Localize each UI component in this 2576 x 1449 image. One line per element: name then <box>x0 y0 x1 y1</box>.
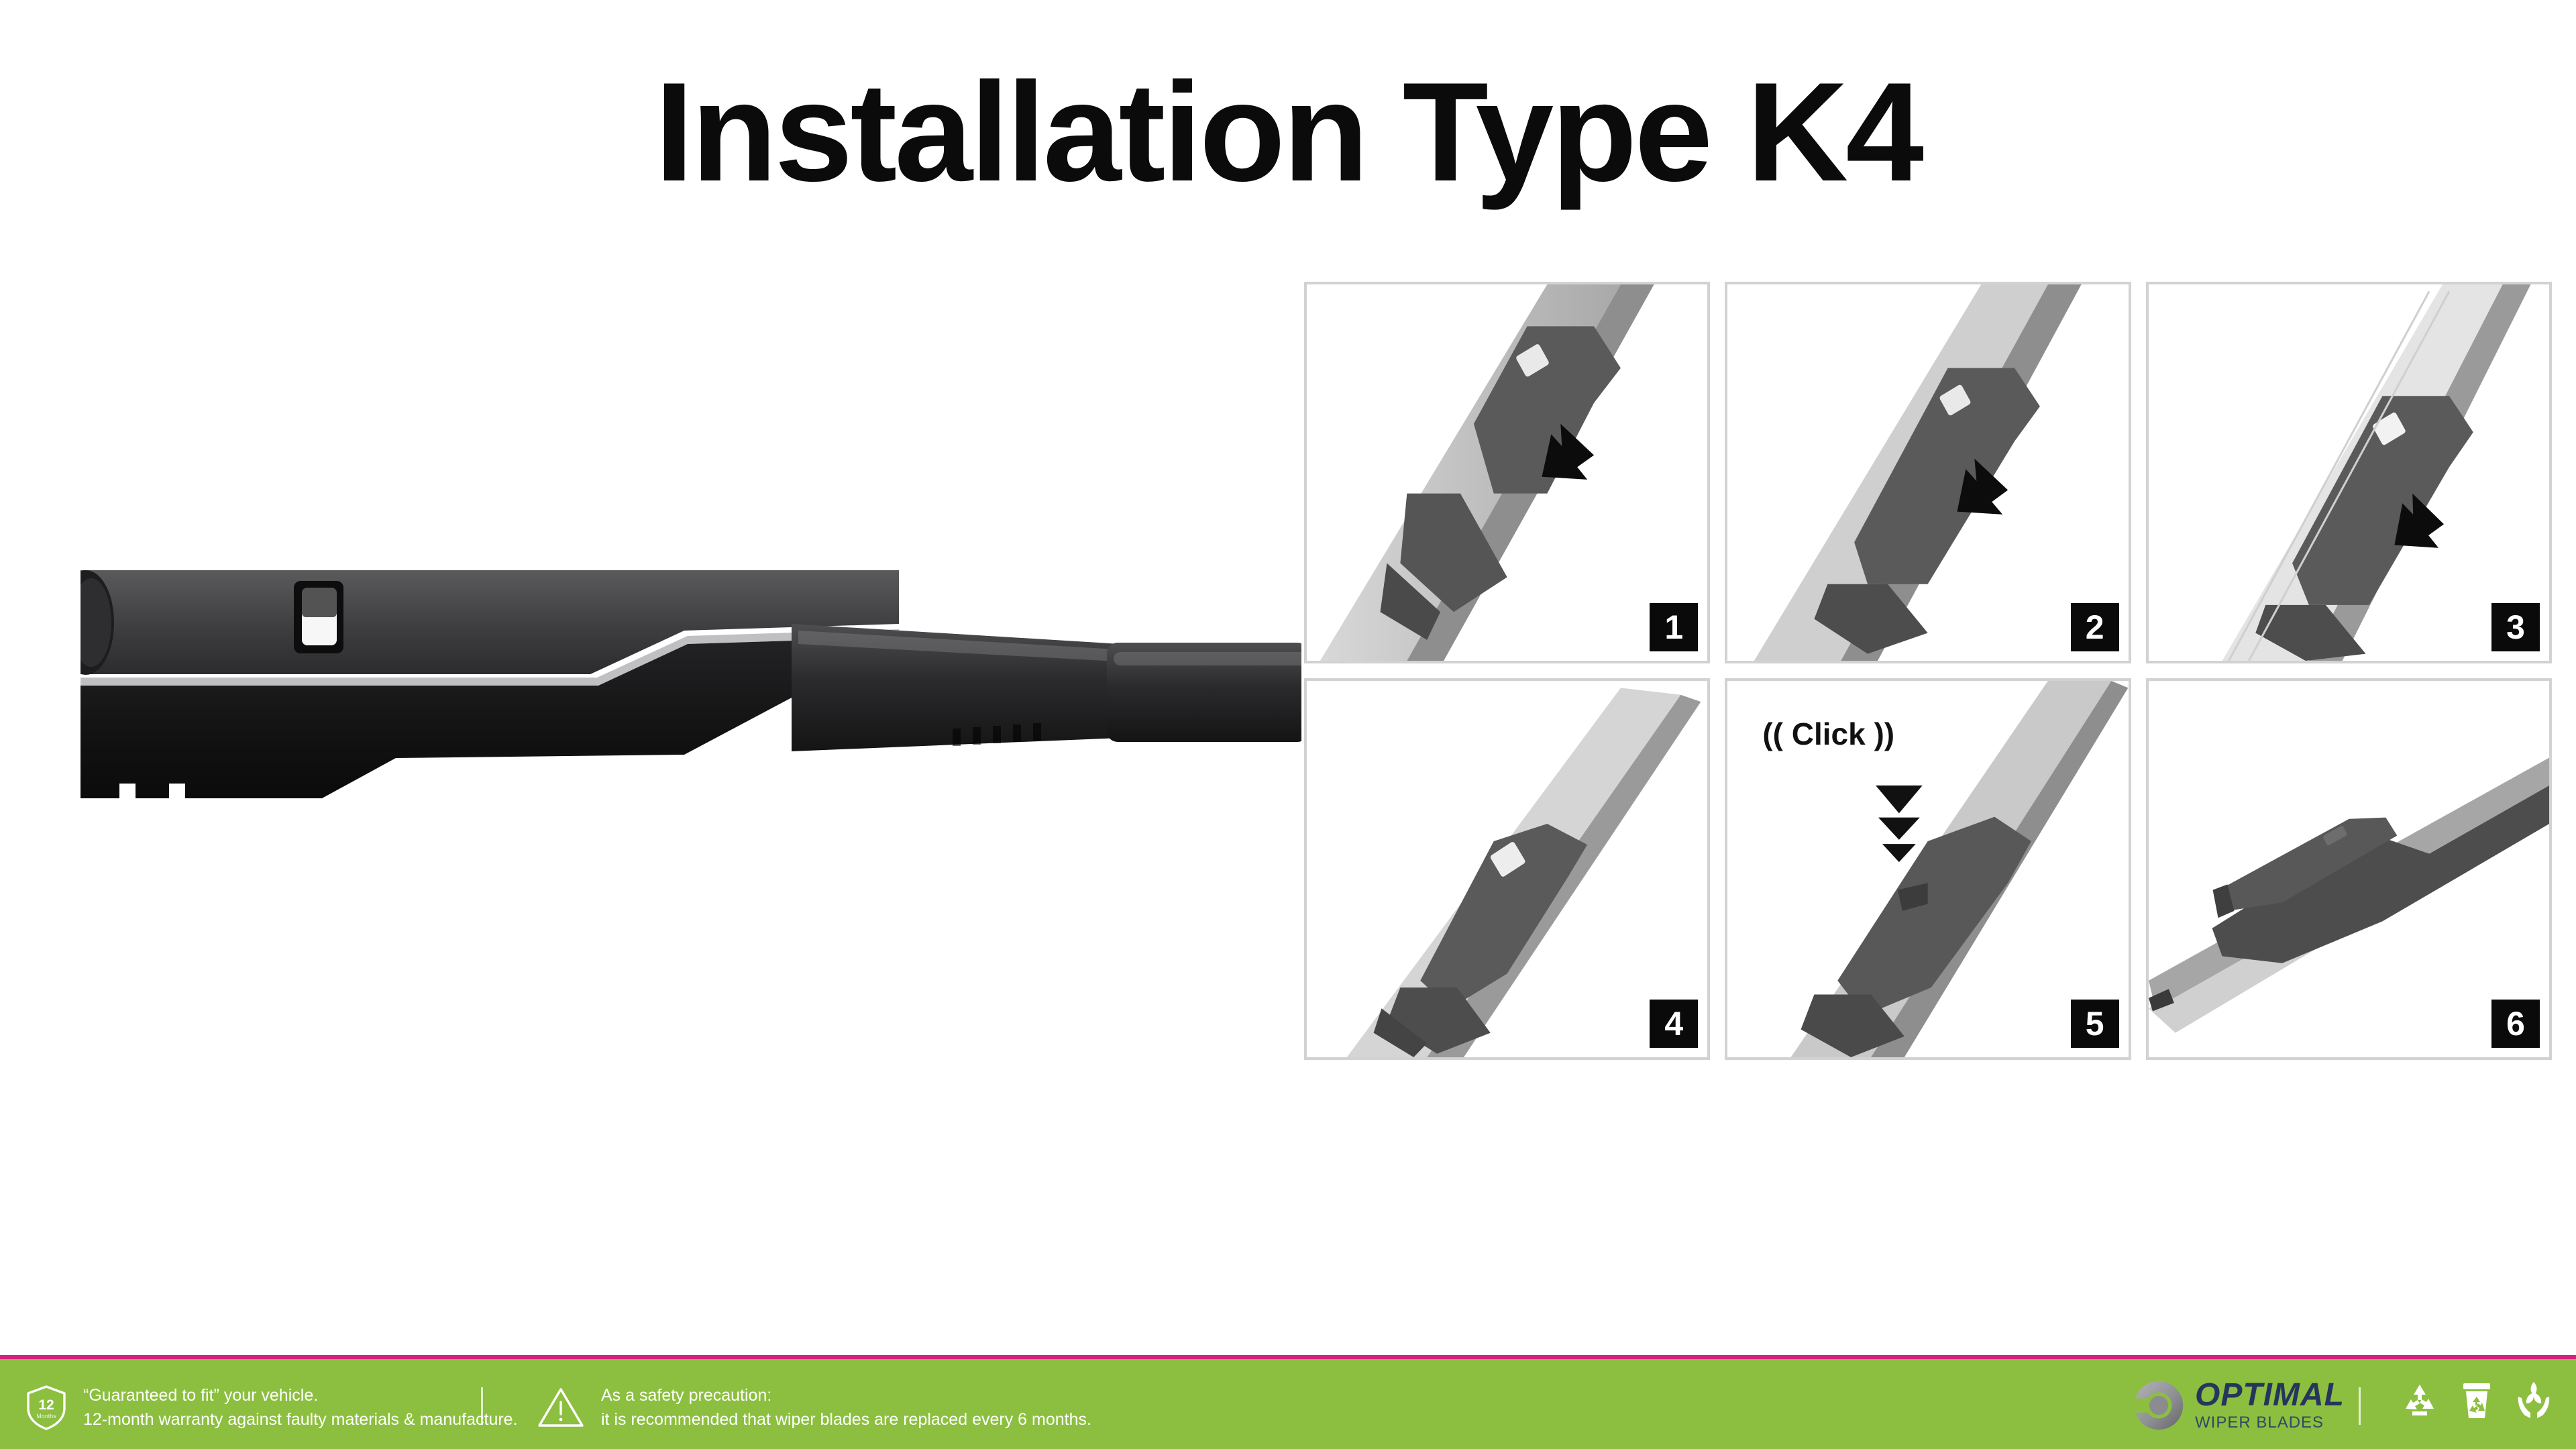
step-number-badge: 4 <box>1650 1000 1698 1048</box>
warranty-line-1: “Guaranteed to fit” your vehicle. <box>83 1383 518 1407</box>
footer-brand-logo: OPTIMAL WIPER BLADES <box>2133 1379 2345 1431</box>
step-number-badge: 1 <box>1650 603 1698 651</box>
svg-text:Months: Months <box>36 1413 56 1419</box>
wiper-arm-adapter-icon <box>2149 284 2549 661</box>
wiper-arm-adapter-icon <box>1307 681 1707 1057</box>
plant-in-hands-icon <box>2516 1381 2552 1419</box>
step-panel-1[interactable]: 1 <box>1304 282 1710 663</box>
footer-divider-2 <box>2359 1387 2361 1425</box>
warning-triangle-icon <box>537 1386 585 1429</box>
wiper-adapter-illustration <box>80 530 1301 845</box>
step-number-badge: 2 <box>2071 603 2119 651</box>
wiper-arm-adapter-icon <box>1307 284 1707 661</box>
step-panel-5[interactable]: (( Click )) 5 <box>1725 678 2131 1060</box>
safety-line-1: As a safety precaution: <box>601 1383 1091 1407</box>
step-panel-4[interactable]: 4 <box>1304 678 1710 1060</box>
page-title: Installation Type K4 <box>0 62 2576 203</box>
footer-brand-name: OPTIMAL <box>2195 1379 2345 1411</box>
safety-line-2: it is recommended that wiper blades are … <box>601 1407 1091 1432</box>
step-number-badge: 5 <box>2071 1000 2119 1048</box>
footer-warranty: 12 Months “Guaranteed to fit” your vehic… <box>25 1383 518 1432</box>
step-number-badge: 3 <box>2491 603 2540 651</box>
click-label: (( Click )) <box>1762 716 1894 752</box>
recycle-icon <box>2402 1382 2438 1418</box>
hero-product-photo <box>80 530 1301 845</box>
wiper-arm-adapter-icon <box>1727 284 2128 661</box>
step-panel-2[interactable]: 2 <box>1725 282 2131 663</box>
installation-guide-page: Installation Type K4 <box>0 0 2576 1449</box>
waste-bin-icon <box>2461 1381 2493 1419</box>
wiper-blade-installed-icon <box>2149 681 2549 1057</box>
footer-brand-tagline: WIPER BLADES <box>2195 1415 2345 1431</box>
footer-divider-1 <box>481 1387 483 1425</box>
installation-steps-grid: 1 2 <box>1304 282 2552 1060</box>
shield-12-months-icon: 12 Months <box>25 1384 67 1431</box>
warranty-line-2: 12-month warranty against faulty materia… <box>83 1407 518 1432</box>
eco-icons <box>2402 1381 2552 1419</box>
step-panel-6[interactable]: 6 <box>2146 678 2552 1060</box>
optimal-logo-mark-icon <box>2133 1380 2184 1431</box>
brand-band: OPTIMAL WIPER BLADES <box>0 1070 2576 1358</box>
svg-text:12: 12 <box>38 1397 54 1413</box>
step-number-badge: 6 <box>2491 1000 2540 1048</box>
step-panel-3[interactable]: 3 <box>2146 282 2552 663</box>
footer-safety: As a safety precaution: it is recommende… <box>537 1383 1091 1432</box>
